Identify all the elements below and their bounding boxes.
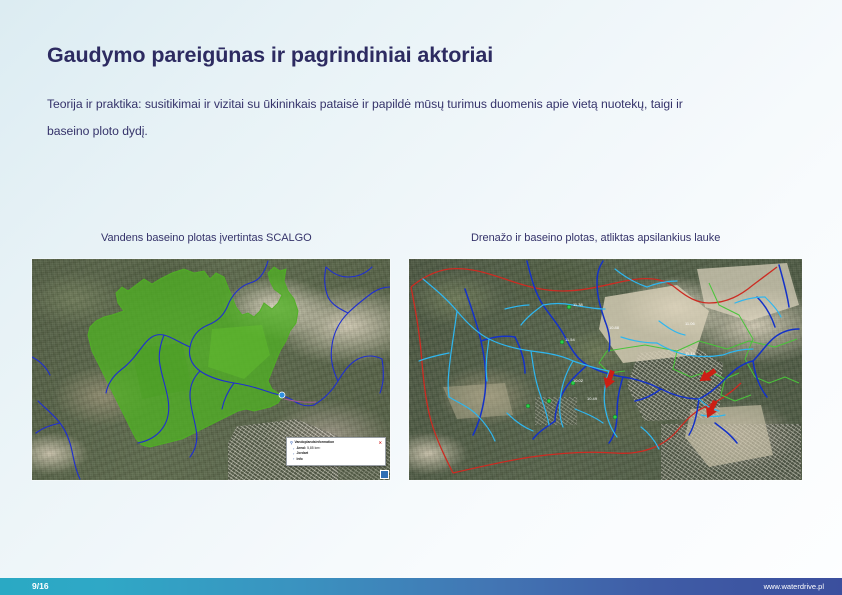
sand-field [443, 383, 513, 419]
figure-caption-left: Vandens baseino plotas įvertintas SCALGO [101, 232, 312, 244]
footer-website-url[interactable]: www.waterdrive.pl [764, 582, 824, 591]
svg-text:11.54: 11.54 [565, 337, 575, 342]
map-image-scalgo-catchment[interactable]: ⚲ Vandoplandsinformation ✕ Areal: 5,85 k… [32, 259, 390, 480]
map-right-canvas: 11.38 11.54 10.02 10.49 10.88 11.14 11.0… [409, 259, 802, 480]
svg-text:10.02: 10.02 [573, 378, 584, 383]
svg-text:11.06: 11.06 [685, 321, 695, 326]
map-pin-icon: ⚲ [290, 441, 293, 445]
catchment-info-popup[interactable]: ⚲ Vandoplandsinformation ✕ Areal: 5,85 k… [286, 437, 386, 466]
catchment-boundary-south [453, 407, 705, 473]
red-arrow-marker [696, 365, 718, 386]
svg-text:11.14: 11.14 [685, 351, 695, 356]
map-image-field-survey-drainage[interactable]: 11.38 11.54 10.02 10.49 10.88 11.14 11.0… [409, 259, 802, 480]
catchment-boundary-west [411, 287, 453, 473]
popup-item-value: 5,85 km² [307, 446, 320, 450]
popup-item-list: Areal: 5,85 km² Jordart Info [290, 446, 382, 462]
list-item[interactable]: Info [293, 457, 382, 462]
sand-field [685, 405, 773, 467]
svg-text:10.49: 10.49 [587, 396, 598, 401]
svg-text:10.88: 10.88 [609, 325, 620, 330]
drainage-vector-layer: 11.38 11.54 10.02 10.49 10.88 11.14 11.0… [409, 259, 802, 480]
page-number: 9/16 [32, 581, 49, 591]
footer-bar: 9/16 www.waterdrive.pl [0, 578, 842, 595]
popup-title: Vandoplandsinformation [294, 440, 334, 445]
outlet-link [284, 399, 316, 402]
map-left-canvas: ⚲ Vandoplandsinformation ✕ Areal: 5,85 k… [32, 259, 390, 480]
map-attribution-badge[interactable] [380, 470, 389, 479]
popup-header: ⚲ Vandoplandsinformation ✕ [290, 440, 382, 445]
close-icon[interactable]: ✕ [379, 441, 382, 445]
body-paragraph: Teorija ir praktika: susitikimai ir vizi… [47, 91, 702, 146]
catchment-inner-shade-2 [132, 343, 192, 399]
popup-item-label: Jordart [297, 451, 309, 455]
popup-item-label: Info [297, 457, 303, 461]
popup-item-label: Areal: [297, 446, 307, 450]
outlet-marker [279, 392, 285, 398]
sand-field [697, 263, 799, 321]
slide: Gaudymo pareigūnas ir pagrindiniai aktor… [0, 0, 842, 595]
page-title: Gaudymo pareigūnas ir pagrindiniai aktor… [47, 43, 777, 69]
svg-text:11.38: 11.38 [573, 302, 583, 307]
figure-caption-right: Drenažo ir baseino plotas, atliktas apsi… [471, 232, 720, 244]
